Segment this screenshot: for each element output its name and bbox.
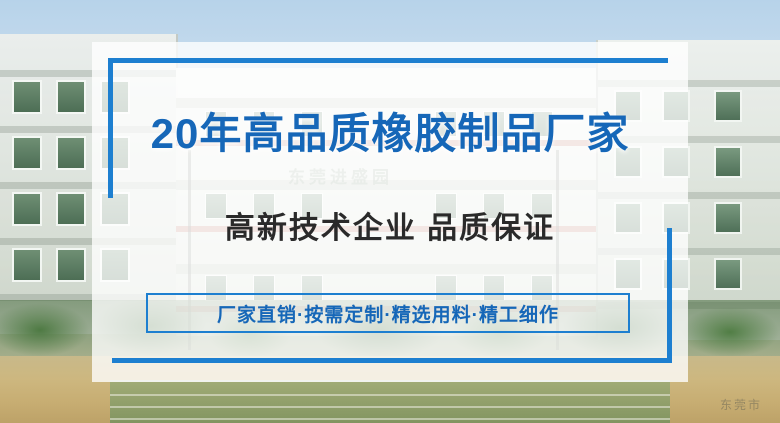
frame-line-right — [667, 228, 672, 363]
frame-line-top — [108, 58, 668, 63]
tagline-box: 厂家直销·按需定制·精选用料·精工细作 — [146, 293, 630, 333]
headline-text: 20年高品质橡胶制品厂家 — [0, 100, 780, 161]
frame-line-bottom — [112, 358, 672, 363]
subheadline-text: 高新技术企业 品质保证 — [0, 203, 780, 247]
promotional-banner: 东莞进盛园 20年高品质橡胶制品厂家 高新技术企业 品质保证 厂家直销·按需定制… — [0, 0, 780, 423]
corner-watermark: 东莞市 — [720, 396, 762, 413]
sports-court — [110, 380, 670, 423]
tagline-text: 厂家直销·按需定制·精选用料·精工细作 — [217, 300, 559, 327]
